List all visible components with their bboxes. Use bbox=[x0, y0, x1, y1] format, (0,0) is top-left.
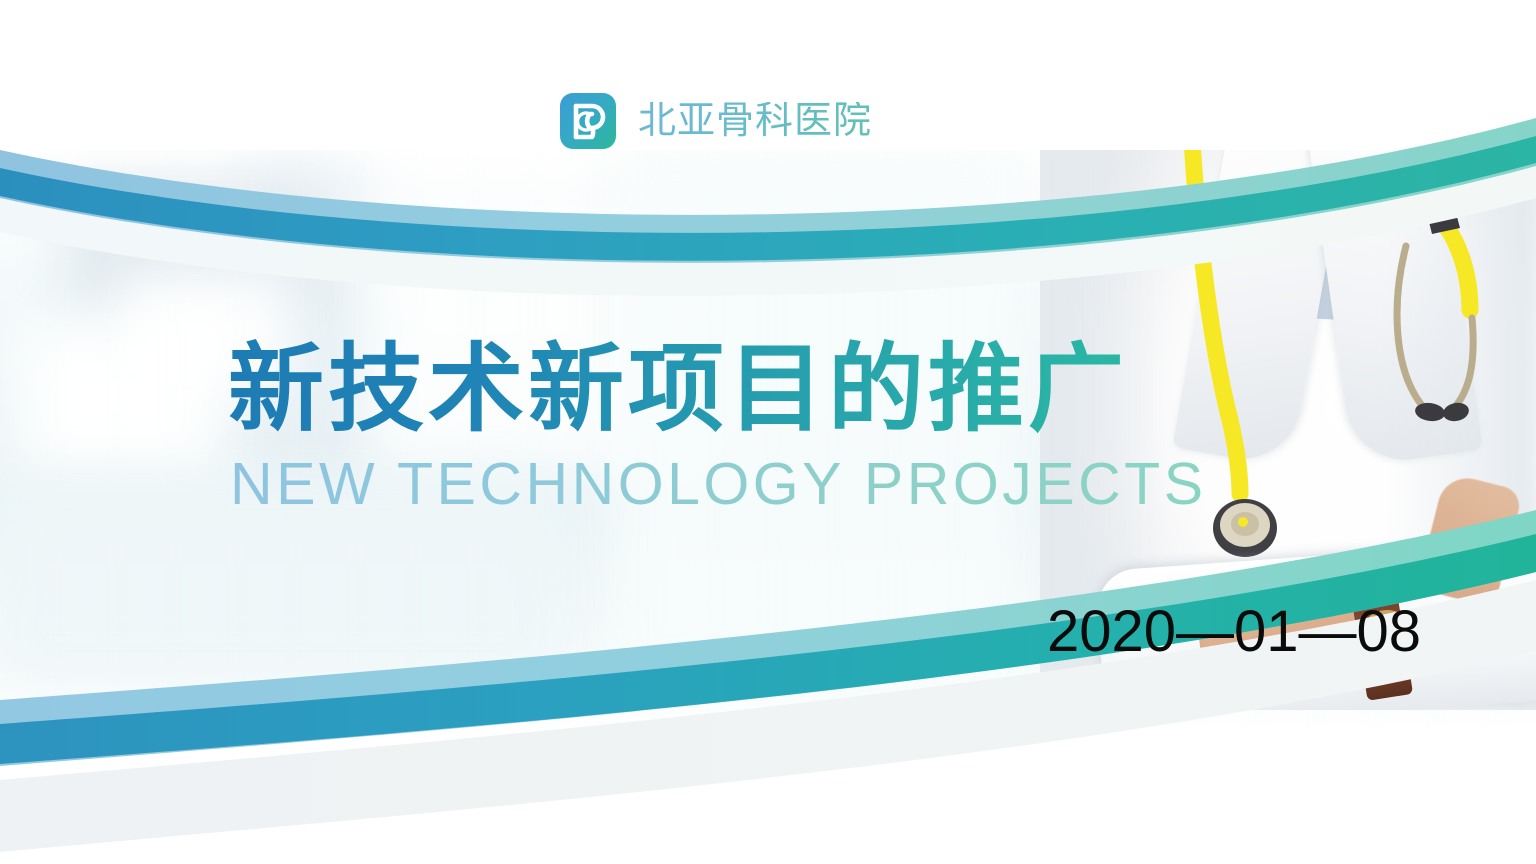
presentation-title-slide: 北亚骨科医院 新技术新项目的推广 NEW TECHNOLOGY PROJECTS… bbox=[0, 0, 1536, 864]
presentation-date: 2020—01—08 bbox=[1047, 603, 1421, 661]
brand-logo-lockup[interactable]: 北亚骨科医院 bbox=[560, 88, 872, 154]
page-title-english: NEW TECHNOLOGY PROJECTS bbox=[230, 455, 1207, 514]
page-title-chinese: 新技术新项目的推广 bbox=[228, 338, 1128, 442]
beiya-b-c-monogram-icon bbox=[560, 93, 616, 149]
brand-name: 北亚骨科医院 bbox=[638, 102, 872, 140]
